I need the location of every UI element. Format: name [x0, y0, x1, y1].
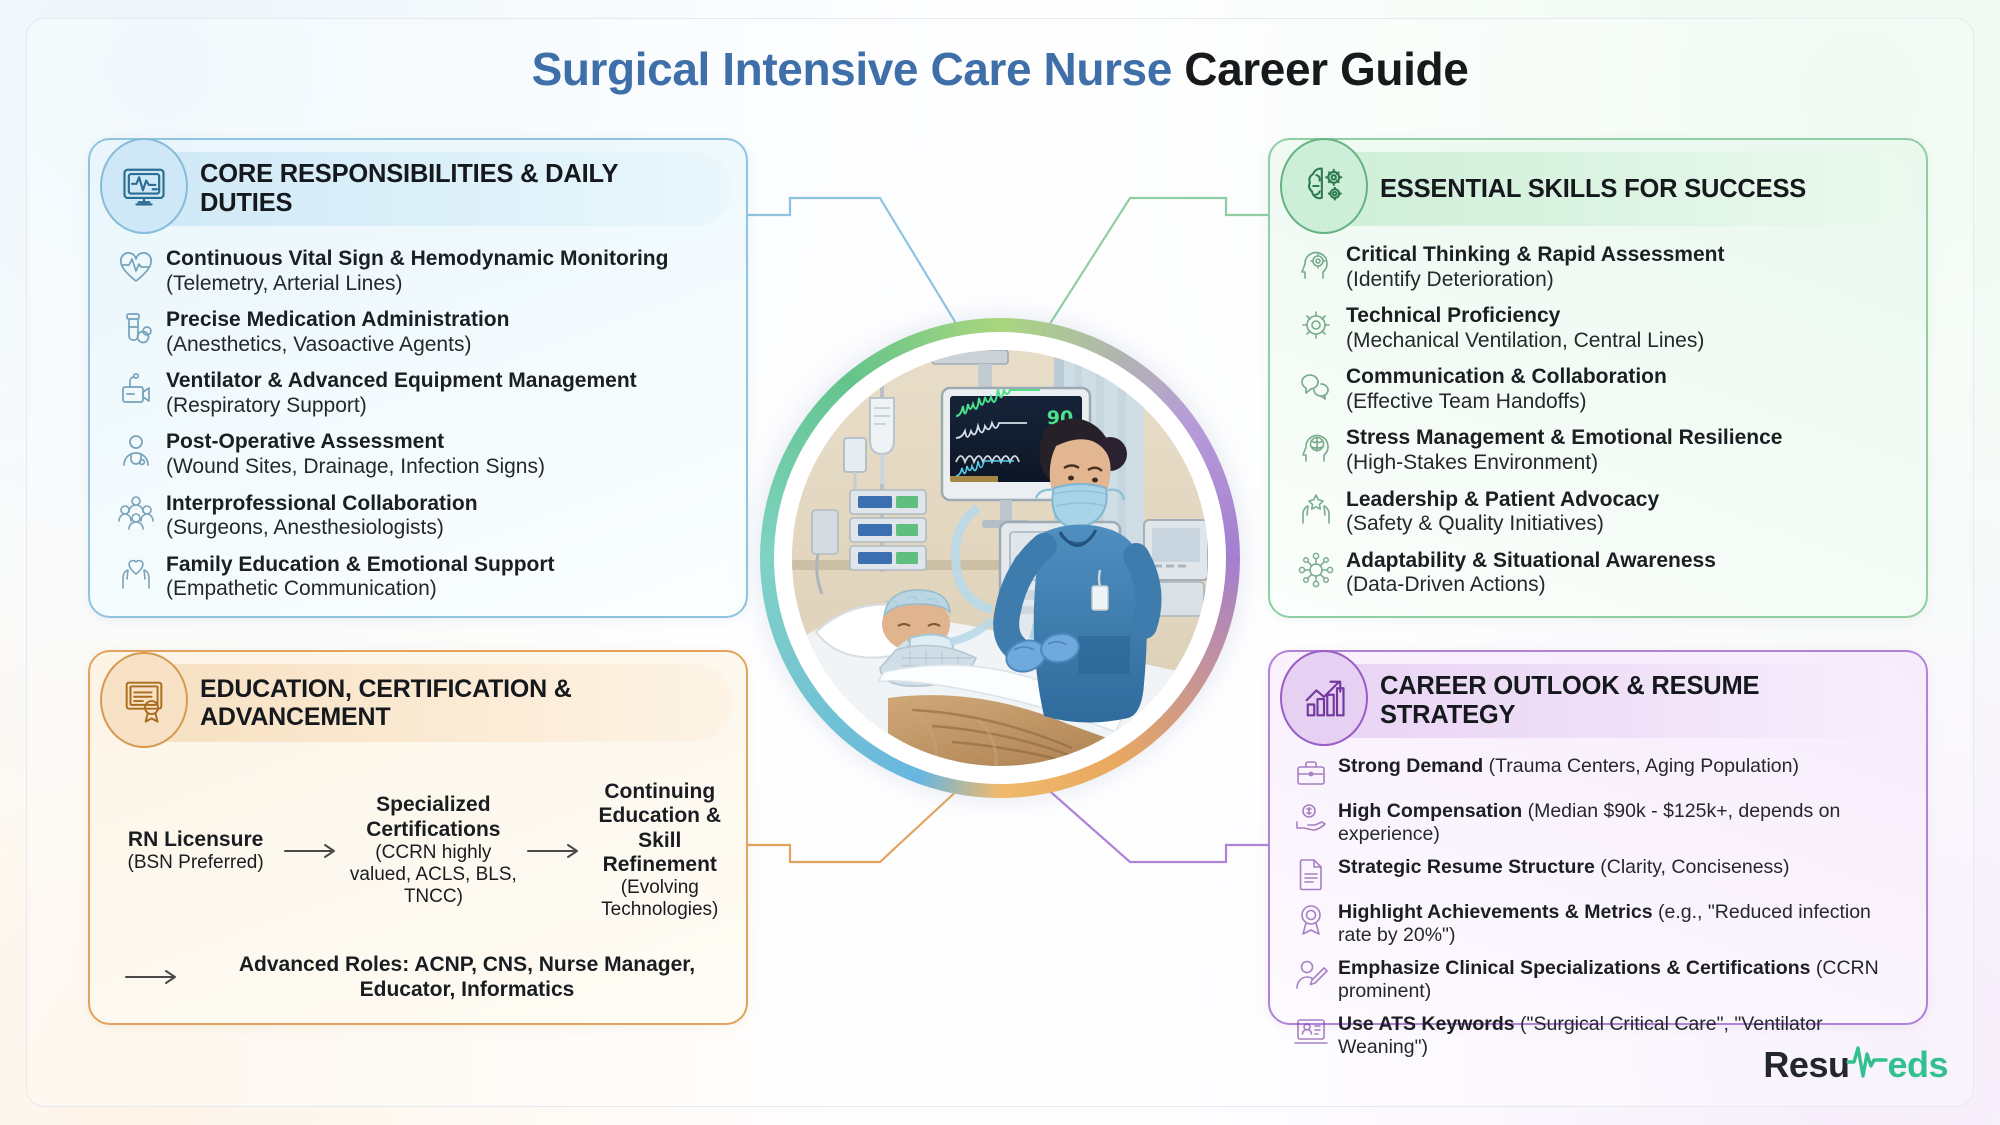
item-title: Family Education & Emotional Support	[166, 553, 555, 576]
item-title: Use ATS Keywords	[1338, 1013, 1515, 1035]
panel-skills-header: ESSENTIAL SKILLS FOR SUCCESS	[1284, 152, 1912, 226]
ecg-wave-m-icon	[1849, 1040, 1887, 1089]
item-sub: (Effective Team Handoffs)	[1346, 390, 1586, 413]
advanced-roles-text: Advanced Roles: ACNP, CNS, Nurse Manager…	[206, 952, 728, 1002]
list-item: Continuous Vital Sign & Hemodynamic Moni…	[116, 246, 724, 296]
panel-career-header: CAREER OUTLOOK & RESUME STRATEGY	[1284, 664, 1912, 738]
certificate-seal-icon	[100, 652, 188, 748]
heart-pulse-icon	[116, 248, 156, 288]
flow-step-2: Specialized Certifications (CCRN highly …	[349, 793, 517, 908]
item-sub: (Telemetry, Arterial Lines)	[166, 272, 403, 295]
item-sub: (High-Stakes Environment)	[1346, 451, 1598, 474]
item-sub: (Mechanical Ventilation, Central Lines)	[1346, 329, 1704, 352]
panel-core-header: CORE RESPONSIBILITIES & DAILY DUTIES	[104, 152, 732, 226]
item-sub: (Trauma Centers, Aging Population)	[1483, 755, 1799, 777]
item-title: Precise Medication Administration	[166, 308, 509, 331]
flow-step-title: Specialized Certifications	[349, 793, 517, 842]
flow-arrow-icon	[524, 838, 586, 864]
item-sub: (Safety & Quality Initiatives)	[1346, 512, 1604, 535]
education-advanced-row: Advanced Roles: ACNP, CNS, Nurse Manager…	[116, 952, 728, 1002]
item-title: Leadership & Patient Advocacy	[1346, 488, 1659, 511]
item-title: Communication & Collaboration	[1346, 365, 1667, 388]
speech-bubbles-icon	[1296, 366, 1336, 406]
panel-career-title: CAREER OUTLOOK & RESUME STRATEGY	[1284, 672, 1912, 729]
team-group-icon	[116, 493, 156, 533]
item-sub: (Clarity, Conciseness)	[1595, 856, 1790, 878]
infographic-root: Surgical Intensive Care Nurse Career Gui…	[0, 0, 2000, 1125]
list-item: Emphasize Clinical Specializations & Cer…	[1294, 956, 1908, 1003]
logo-text-part1: Resu	[1763, 1044, 1849, 1086]
flow-step-sub: (BSN Preferred)	[116, 852, 275, 874]
education-flow-row: RN Licensure (BSN Preferred) Specialized…	[116, 780, 728, 922]
network-node-icon	[1296, 550, 1336, 590]
medication-vial-icon	[116, 309, 156, 349]
ventilator-icon	[116, 370, 156, 410]
core-items-list: Continuous Vital Sign & Hemodynamic Moni…	[116, 246, 724, 602]
list-item: Stress Management & Emotional Resilience…	[1296, 425, 1904, 475]
flow-step-sub: (Evolving Technologies)	[592, 877, 728, 921]
list-item: Communication & Collaboration (Effective…	[1296, 364, 1904, 414]
person-pen-icon	[1294, 958, 1328, 992]
item-sub: (Wound Sites, Drainage, Infection Signs)	[166, 455, 545, 478]
list-item: High Compensation (Median $90k - $125k+,…	[1294, 799, 1908, 846]
flow-step-title: Continuing Education & Skill Refinement	[592, 780, 728, 877]
flow-step-1: RN Licensure (BSN Preferred)	[116, 828, 275, 874]
item-title: Critical Thinking & Rapid Assessment	[1346, 243, 1724, 266]
item-title: High Compensation	[1338, 800, 1522, 822]
panel-education-title: EDUCATION, CERTIFICATION & ADVANCEMENT	[104, 675, 732, 731]
head-gear-icon	[1296, 244, 1336, 284]
list-item: Precise Medication Administration (Anest…	[116, 307, 724, 357]
logo-text-part2: eds	[1887, 1044, 1948, 1086]
skills-items-list: Critical Thinking & Rapid Assessment (Id…	[1296, 242, 1904, 598]
flow-arrow-icon	[122, 964, 184, 990]
list-item: Technical Proficiency (Mechanical Ventil…	[1296, 303, 1904, 353]
hands-star-icon	[1296, 489, 1336, 529]
document-icon	[1294, 857, 1328, 891]
award-ribbon-icon	[1294, 902, 1328, 936]
page-title-plain: Career Guide	[1172, 43, 1468, 95]
item-title: Adaptability & Situational Awareness	[1346, 549, 1716, 572]
item-title: Technical Proficiency	[1346, 304, 1560, 327]
item-title: Continuous Vital Sign & Hemodynamic Moni…	[166, 247, 668, 270]
item-title: Strategic Resume Structure	[1338, 856, 1595, 878]
career-items-list: Strong Demand (Trauma Centers, Aging Pop…	[1294, 754, 1908, 1059]
panel-core-title: CORE RESPONSIBILITIES & DAILY DUTIES	[104, 160, 732, 217]
item-title: Ventilator & Advanced Equipment Manageme…	[166, 369, 637, 392]
item-sub: (Anesthetics, Vasoactive Agents)	[166, 333, 471, 356]
panel-education-certification: EDUCATION, CERTIFICATION & ADVANCEMENT R…	[88, 650, 748, 1025]
gear-brain-icon	[1296, 305, 1336, 345]
growth-chart-icon	[1280, 650, 1368, 746]
list-item: Family Education & Emotional Support (Em…	[116, 552, 724, 602]
panel-core-responsibilities: CORE RESPONSIBILITIES & DAILY DUTIES Con…	[88, 138, 748, 618]
list-item: Strategic Resume Structure (Clarity, Con…	[1294, 855, 1908, 891]
hand-money-icon	[1294, 801, 1328, 835]
patient-assessment-icon	[116, 431, 156, 471]
education-flow: RN Licensure (BSN Preferred) Specialized…	[116, 780, 728, 1002]
panel-essential-skills: ESSENTIAL SKILLS FOR SUCCESS Critical Th…	[1268, 138, 1928, 618]
list-item: Post-Operative Assessment (Wound Sites, …	[116, 429, 724, 479]
item-sub: (Empathetic Communication)	[166, 577, 437, 600]
caring-hands-heart-icon	[116, 554, 156, 594]
list-item: Leadership & Patient Advocacy (Safety & …	[1296, 487, 1904, 537]
panel-career-outlook: CAREER OUTLOOK & RESUME STRATEGY Strong …	[1268, 650, 1928, 1025]
list-item: Critical Thinking & Rapid Assessment (Id…	[1296, 242, 1904, 292]
item-sub: (Respiratory Support)	[166, 394, 367, 417]
vital-monitor-icon	[100, 138, 188, 234]
list-item: Highlight Achievements & Metrics (e.g., …	[1294, 900, 1908, 947]
item-sub: (Identify Deterioration)	[1346, 268, 1554, 291]
item-sub: (Surgeons, Anesthesiologists)	[166, 516, 444, 539]
list-item: Strong Demand (Trauma Centers, Aging Pop…	[1294, 754, 1908, 790]
panel-education-header: EDUCATION, CERTIFICATION & ADVANCEMENT	[104, 664, 732, 742]
list-item: Interprofessional Collaboration (Surgeon…	[116, 491, 724, 541]
flow-step-3: Continuing Education & Skill Refinement …	[592, 780, 728, 922]
item-title: Highlight Achievements & Metrics	[1338, 901, 1653, 923]
item-sub: (Data-Driven Actions)	[1346, 573, 1546, 596]
briefcase-icon	[1294, 756, 1328, 790]
flow-step-sub: (CCRN highly valued, ACLS, BLS, TNCC)	[349, 842, 517, 908]
ats-screen-icon	[1294, 1014, 1328, 1048]
page-title-accent: Surgical Intensive Care Nurse	[532, 43, 1172, 95]
center-image-wrapper: 90 80 90	[760, 318, 1240, 798]
page-title: Surgical Intensive Care Nurse Career Gui…	[0, 42, 2000, 96]
brain-gears-icon	[1280, 138, 1368, 234]
item-title: Post-Operative Assessment	[166, 430, 444, 453]
icu-scene-illustration: 90 80 90	[792, 350, 1208, 766]
list-item: Ventilator & Advanced Equipment Manageme…	[116, 368, 724, 418]
head-mind-icon	[1296, 427, 1336, 467]
item-title: Emphasize Clinical Specializations & Cer…	[1338, 957, 1810, 979]
flow-arrow-icon	[281, 838, 343, 864]
list-item: Adaptability & Situational Awareness (Da…	[1296, 548, 1904, 598]
item-title: Interprofessional Collaboration	[166, 492, 478, 515]
resumeds-logo: Resu eds	[1763, 1040, 1948, 1089]
item-title: Stress Management & Emotional Resilience	[1346, 426, 1782, 449]
flow-step-title: RN Licensure	[116, 828, 275, 852]
item-title: Strong Demand	[1338, 755, 1483, 777]
